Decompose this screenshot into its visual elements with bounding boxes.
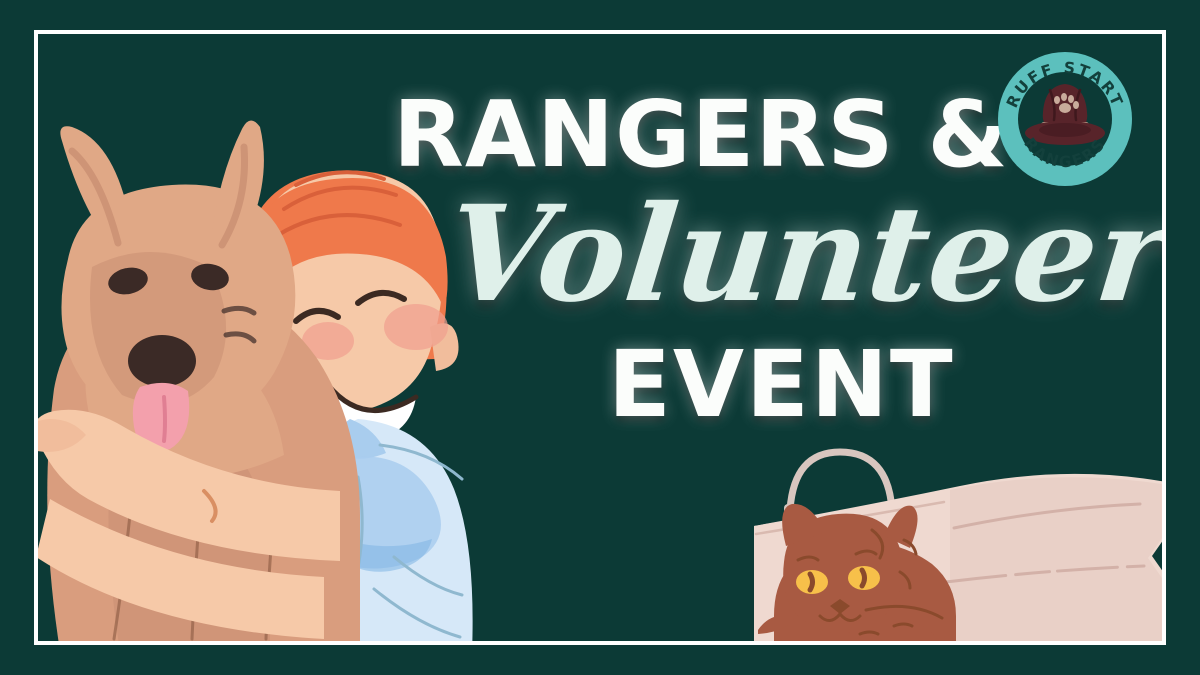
event-banner: RANGERS & Volunteer EVENT <box>0 0 1200 675</box>
headline-line-rangers: RANGERS & <box>393 89 1009 181</box>
headline-line-event: EVENT <box>608 339 955 431</box>
headline-group: RANGERS & Volunteer EVENT <box>38 34 1162 641</box>
banner-stage: RANGERS & Volunteer EVENT <box>38 34 1162 641</box>
ruff-start-rangers-logo: RUFF START RANGERS <box>996 50 1134 188</box>
headline-line-volunteer: Volunteer <box>441 189 1162 321</box>
